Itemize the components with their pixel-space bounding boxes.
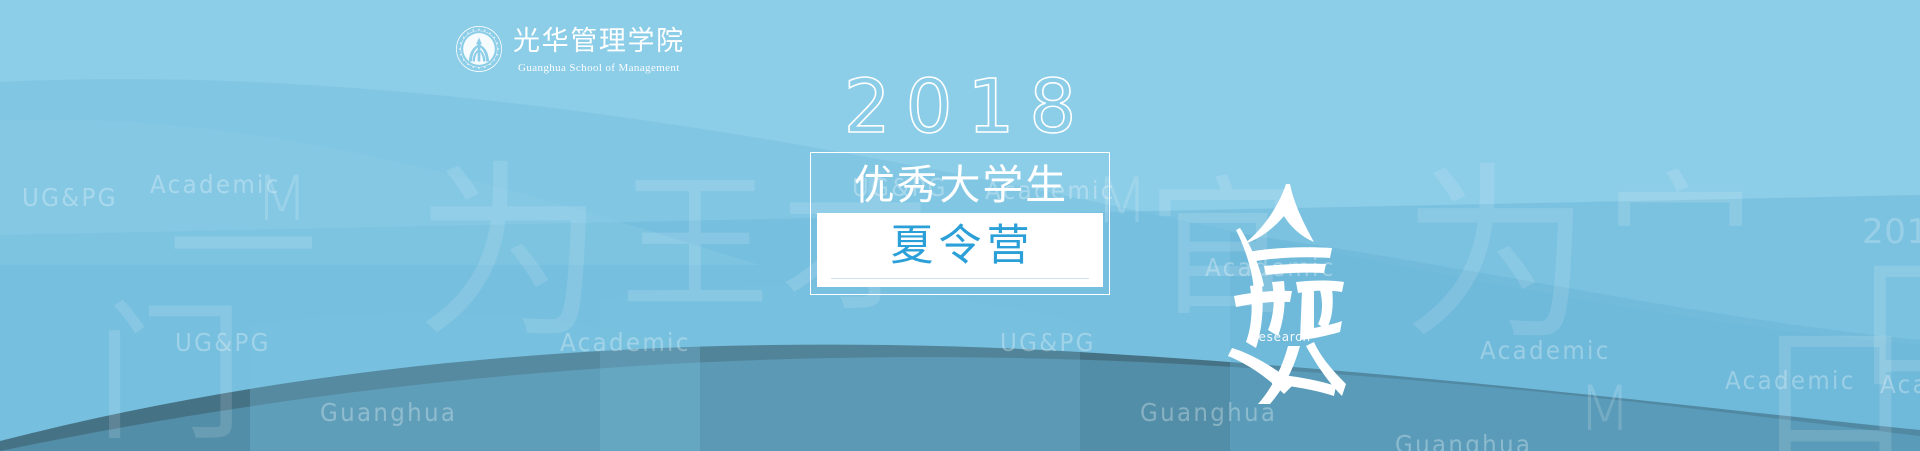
title-stack: 2018 优秀大学生 夏令营 [750,72,1170,295]
title-line-camp: 夏令营 [817,222,1103,270]
pku-seal-icon [455,25,503,73]
title-white-panel: 夏令营 [817,213,1103,287]
title-line-outstanding: 优秀大学生 [817,159,1103,212]
logo-name-en: Guanghua School of Management [518,62,680,74]
logo-text-block: 光华管理学院 Guanghua School of Management [513,25,685,74]
banner-root: UG&PGAcademicMUG&PGGuanghuaAcademicUG&PG… [0,0,1920,451]
logo-name-cn: 光华管理学院 [513,28,685,55]
calligraphy-caption: Research [1250,330,1311,344]
calligraphy-glyphs-icon [1228,178,1358,408]
title-box: 优秀大学生 夏令营 [810,152,1110,295]
guanghua-logo: 光华管理学院 Guanghua School of Management [455,25,685,74]
calligraphy-mark: Research [1228,178,1358,408]
year-heading: 2018 [829,72,1091,142]
panel-divider [831,278,1089,279]
